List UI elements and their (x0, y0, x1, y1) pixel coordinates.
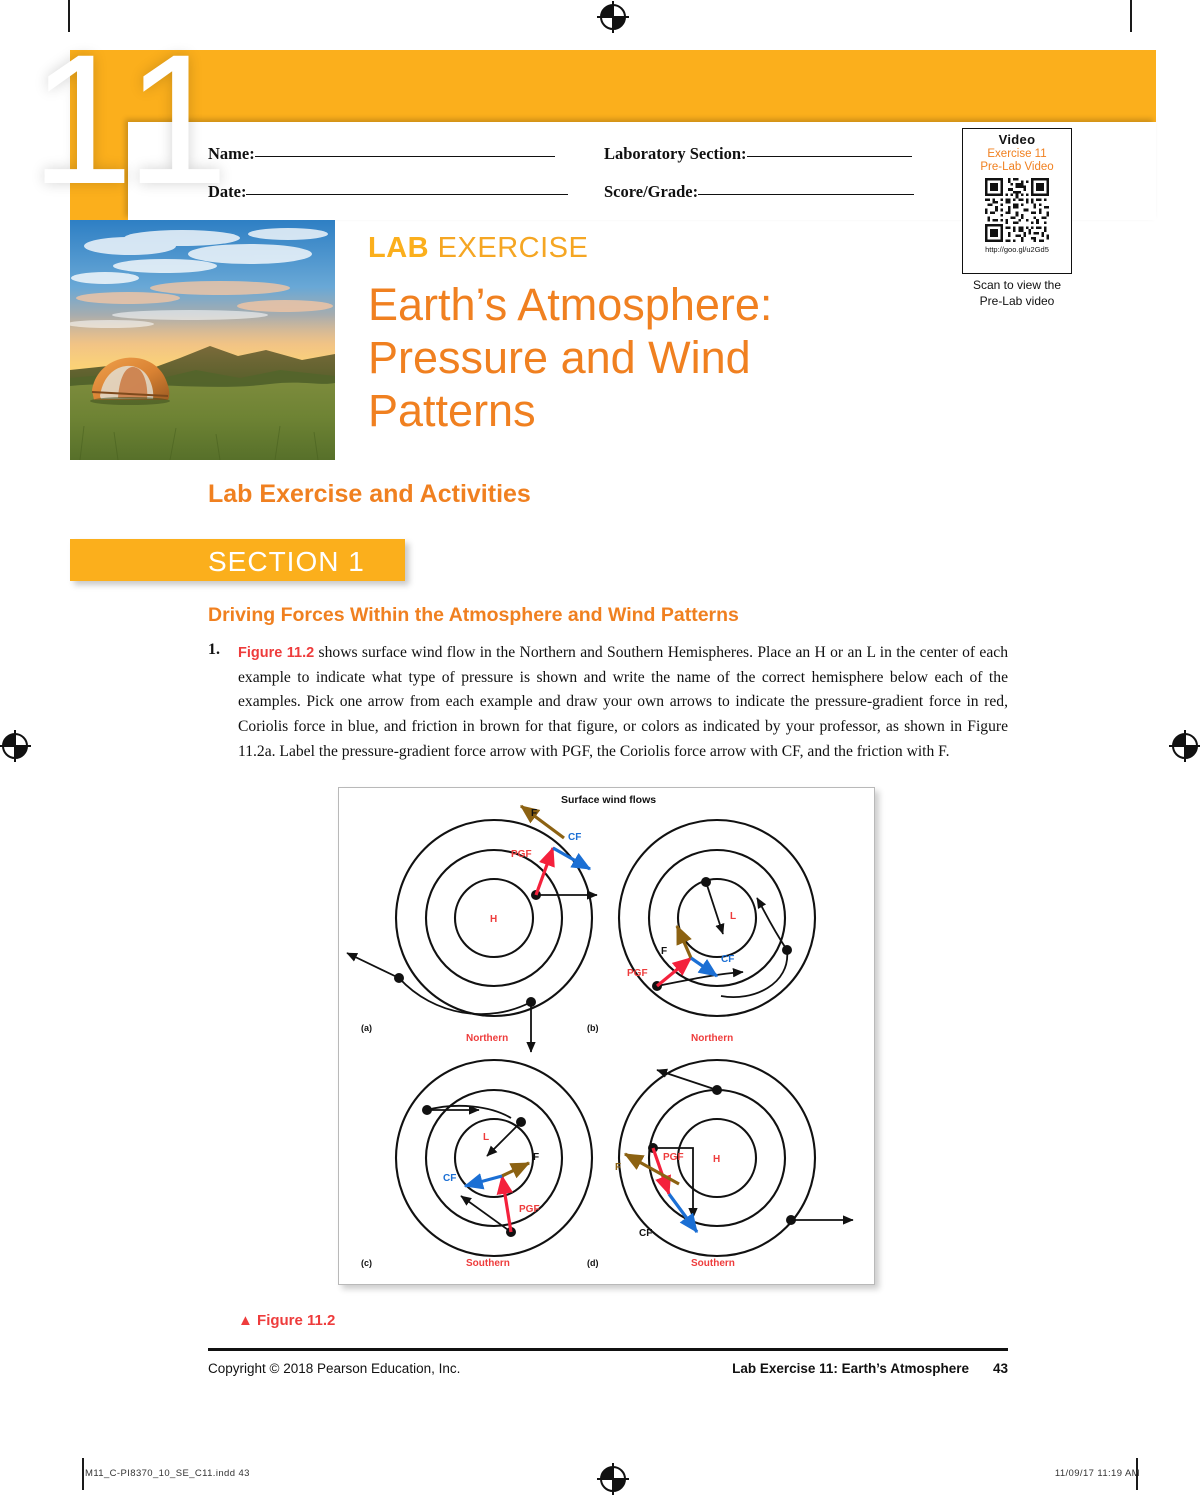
panel-a-label: (a) (361, 1023, 372, 1033)
lab-section-input[interactable] (747, 156, 912, 157)
panel-c-hemisphere: Southern (466, 1258, 510, 1269)
kicker-exercise: EXERCISE (429, 232, 588, 264)
panel-b-pgf-label: PGF (627, 968, 648, 979)
panel-c: L PGF F CF (c) Southern (361, 1060, 592, 1269)
exercise-cover-photo (70, 220, 335, 460)
form-row-score: Score/Grade: (604, 182, 914, 202)
panel-d-f-label: F (615, 1162, 621, 1173)
video-box-url[interactable]: http://goo.gl/u2Gd5 (963, 245, 1071, 254)
question-text: shows surface wind flow in the Northern … (238, 644, 1008, 760)
panel-c-label: (c) (361, 1258, 372, 1268)
panel-d-hemisphere: Southern (691, 1258, 735, 1269)
panel-c-pgf-arrow (502, 1176, 511, 1232)
crop-mark-bottom-left (82, 1458, 84, 1490)
panel-b-pressure-letter: L (730, 911, 736, 922)
panel-a-pressure-letter: H (490, 914, 497, 925)
lab-section-label: Laboratory Section: (604, 144, 747, 164)
diagram-title: Surface wind flows (561, 794, 656, 806)
section-banner-label: SECTION 1 (208, 546, 365, 578)
crop-mark-top-right (1130, 0, 1132, 32)
form-row-lab-section: Laboratory Section: (604, 144, 912, 164)
title-line-3: Patterns (368, 384, 928, 437)
date-input[interactable] (246, 194, 568, 195)
panel-d-cf-label: CF (639, 1228, 652, 1239)
score-input[interactable] (698, 194, 914, 195)
qr-code-icon[interactable] (985, 178, 1049, 242)
footer-divider (208, 1348, 1008, 1351)
scan-line1: Scan to view the (973, 278, 1061, 292)
question-body: Figure 11.2 shows surface wind flow in t… (238, 641, 1008, 764)
page-title: Earth’s Atmosphere: Pressure and Wind Pa… (368, 278, 928, 437)
registration-mark-left (2, 733, 28, 759)
page-number: 43 (993, 1361, 1008, 1376)
title-line-1: Earth’s Atmosphere: (368, 278, 928, 331)
title-line-2: Pressure and Wind (368, 331, 928, 384)
panel-b-cf-label: CF (721, 954, 734, 965)
panel-d-pressure-letter: H (713, 1154, 720, 1165)
panel-c-friction-arrow (502, 1163, 529, 1176)
panel-a: H PGF F CF (a) Northern (347, 806, 597, 1052)
panel-b: L PGF F CF (b) Northern (587, 820, 815, 1044)
panel-a-cf-label: CF (568, 832, 581, 843)
figure-reference-link[interactable]: Figure 11.2 (238, 645, 314, 661)
figure-caption-marker: ▲ (238, 1312, 253, 1329)
question-item-1: 1. Figure 11.2 shows surface wind flow i… (208, 641, 1008, 764)
printer-slug-left: M11_C-PI8370_10_SE_C11.indd 43 (85, 1468, 250, 1479)
panel-c-pressure-letter: L (483, 1132, 489, 1143)
panel-d-pgf-label: PGF (663, 1152, 684, 1163)
video-qr-box[interactable]: Video Exercise 11 Pre-Lab Video (962, 128, 1072, 274)
footer-running-head: Lab Exercise 11: Earth’s Atmosphere43 (600, 1361, 1008, 1376)
section-banner: SECTION 1 (70, 539, 405, 581)
panel-b-friction-arrow (677, 926, 691, 958)
panel-b-f-label: F (661, 946, 667, 957)
figure-caption: ▲ Figure 11.2 (238, 1312, 335, 1329)
panel-d: H PGF F CF (d) Southern (587, 1060, 853, 1269)
lab-exercise-kicker: LAB EXERCISE (368, 232, 588, 265)
panel-b-cf-arrow (691, 958, 717, 976)
panel-a-f-label: F (531, 808, 537, 819)
video-subtitle-line2: Pre-Lab Video (980, 161, 1053, 173)
panel-b-label: (b) (587, 1023, 599, 1033)
registration-mark-top (600, 4, 626, 30)
figure-11-2: .iso { fill:none; stroke:#111; stroke-wi… (338, 787, 875, 1285)
panel-c-cf-label: CF (443, 1173, 456, 1184)
running-head-text: Lab Exercise 11: Earth’s Atmosphere (732, 1361, 969, 1376)
video-subtitle-line1: Exercise 11 (987, 148, 1046, 160)
video-box-subtitle: Exercise 11 Pre-Lab Video (963, 148, 1071, 174)
panel-c-pgf-label: PGF (519, 1204, 540, 1215)
scan-line2: Pre-Lab video (980, 294, 1055, 308)
footer-copyright: Copyright © 2018 Pearson Education, Inc. (208, 1361, 460, 1376)
printer-slug-right: 11/09/17 11:19 AM (900, 1468, 1140, 1479)
page-canvas: Name: Laboratory Section: Date: Score/Gr… (0, 0, 1200, 1498)
video-box-title: Video (963, 132, 1071, 147)
section-heading: Driving Forces Within the Atmosphere and… (208, 604, 739, 627)
panel-a-pgf-arrow (536, 848, 553, 895)
panel-c-cf-arrow (465, 1176, 502, 1186)
lab-activities-subtitle: Lab Exercise and Activities (208, 480, 531, 509)
panel-a-hemisphere: Northern (466, 1033, 508, 1044)
registration-mark-bottom (600, 1466, 626, 1492)
panel-c-f-label: F (533, 1152, 539, 1163)
name-input[interactable] (255, 156, 555, 157)
panel-d-label: (d) (587, 1258, 599, 1268)
question-number: 1. (208, 641, 220, 659)
panel-a-cf-arrow (553, 848, 590, 869)
score-label: Score/Grade: (604, 182, 698, 202)
panel-b-hemisphere: Northern (691, 1033, 733, 1044)
exercise-number-overlay: 11 (0, 0, 265, 240)
panel-a-pgf-label: PGF (511, 849, 532, 860)
video-scan-caption: Scan to view the Pre-Lab video (948, 278, 1086, 309)
figure-caption-text: Figure 11.2 (257, 1312, 335, 1329)
kicker-lab: LAB (368, 232, 429, 264)
registration-mark-right (1172, 733, 1198, 759)
